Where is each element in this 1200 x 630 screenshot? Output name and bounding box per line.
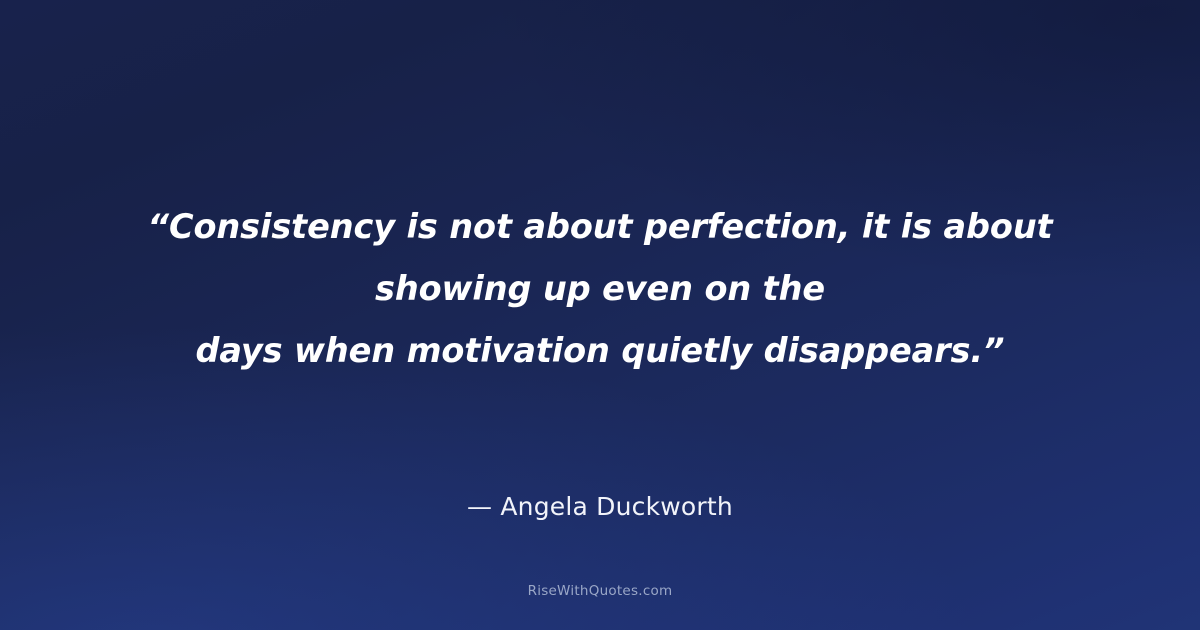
quote-block: “Consistency is not about perfection, it…: [80, 196, 1120, 382]
quote-attribution: — Angela Duckworth: [0, 492, 1200, 521]
quote-card: “Consistency is not about perfection, it…: [0, 0, 1200, 630]
quote-text: “Consistency is not about perfection, it…: [80, 196, 1120, 382]
footer-source-site: RiseWithQuotes.com: [0, 583, 1200, 599]
